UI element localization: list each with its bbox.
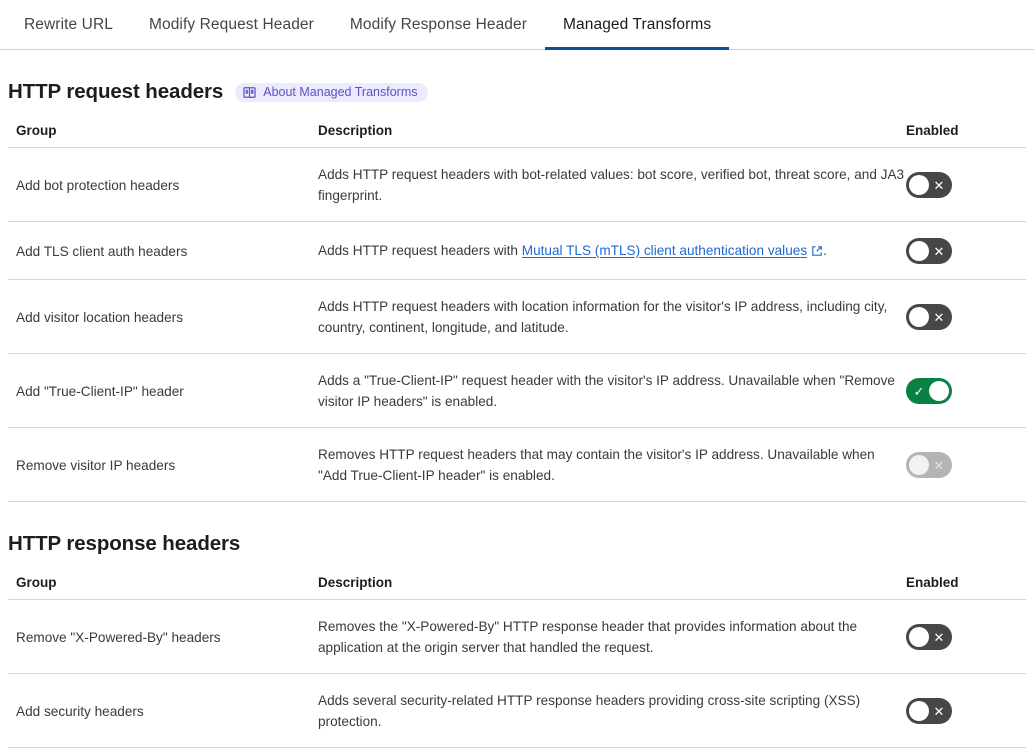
row-group-name: Add security headers: [8, 674, 318, 748]
response-headers-table: Group Description Enabled Remove "X-Powe…: [8, 575, 1026, 748]
row-description: Adds HTTP request headers with Mutual TL…: [318, 222, 906, 280]
mtls-docs-link[interactable]: Mutual TLS (mTLS) client authentication …: [522, 243, 807, 258]
row-group-name: Remove visitor IP headers: [8, 428, 318, 502]
page-title-response: HTTP response headers: [8, 532, 240, 556]
cross-icon: ✕: [928, 172, 950, 198]
toggle-knob: [909, 701, 929, 721]
http-response-headers-section: HTTP response headers Group Description …: [0, 532, 1034, 748]
cross-icon: ✕: [928, 304, 950, 330]
link-label: Mutual TLS (mTLS) client authentication …: [522, 243, 807, 258]
http-request-headers-section: HTTP request headers About Managed Trans…: [0, 80, 1034, 502]
table-row: Remove "X-Powered-By" headers Removes th…: [8, 600, 1026, 674]
cross-icon: ✕: [928, 238, 950, 264]
table-row: Add TLS client auth headers Adds HTTP re…: [8, 222, 1026, 280]
enabled-toggle[interactable]: ✕: [906, 624, 952, 650]
enabled-toggle[interactable]: ✕: [906, 238, 952, 264]
request-section-header: HTTP request headers About Managed Trans…: [8, 80, 1026, 104]
enabled-toggle: ✕: [906, 452, 952, 478]
table-row: Remove visitor IP headers Removes HTTP r…: [8, 428, 1026, 502]
toggle-knob: [909, 175, 929, 195]
table-row: Add visitor location headers Adds HTTP r…: [8, 280, 1026, 354]
row-enabled-cell: ✕: [906, 222, 1026, 280]
table-header-row: Group Description Enabled: [8, 123, 1026, 148]
row-enabled-cell: ✕: [906, 280, 1026, 354]
description-text: Removes HTTP request headers that may co…: [318, 444, 906, 486]
row-enabled-cell: ✕: [906, 674, 1026, 748]
table-row: Add security headers Adds several securi…: [8, 674, 1026, 748]
row-group-name: Add TLS client auth headers: [8, 222, 318, 280]
about-managed-transforms-badge[interactable]: About Managed Transforms: [235, 83, 428, 102]
book-icon: [243, 86, 256, 99]
tab-managed-transforms[interactable]: Managed Transforms: [545, 0, 729, 49]
row-group-name: Add "True-Client-IP" header: [8, 354, 318, 428]
table-header-row: Group Description Enabled: [8, 575, 1026, 600]
cross-icon: ✕: [928, 698, 950, 724]
description-text: Adds several security-related HTTP respo…: [318, 690, 906, 732]
column-header-description: Description: [318, 575, 906, 600]
tab-modify-response-header[interactable]: Modify Response Header: [332, 0, 545, 49]
enabled-toggle[interactable]: ✕: [906, 172, 952, 198]
column-header-group: Group: [8, 123, 318, 148]
spacer: [8, 556, 1026, 575]
cross-icon: ✕: [928, 624, 950, 650]
toggle-knob: [929, 381, 949, 401]
row-description: Removes HTTP request headers that may co…: [318, 428, 906, 502]
column-header-enabled: Enabled: [906, 575, 1026, 600]
toggle-knob: [909, 455, 929, 475]
column-header-description: Description: [318, 123, 906, 148]
row-description: Adds HTTP request headers with location …: [318, 280, 906, 354]
response-section-header: HTTP response headers: [8, 532, 1026, 556]
tab-label: Rewrite URL: [24, 16, 113, 34]
row-group-name: Remove "X-Powered-By" headers: [8, 600, 318, 674]
page-title-request: HTTP request headers: [8, 80, 223, 104]
toggle-knob: [909, 307, 929, 327]
row-description: Adds HTTP request headers with bot-relat…: [318, 148, 906, 222]
description-text: Adds a "True-Client-IP" request header w…: [318, 370, 906, 412]
row-group-name: Add visitor location headers: [8, 280, 318, 354]
toggle-knob: [909, 627, 929, 647]
table-row: Add bot protection headers Adds HTTP req…: [8, 148, 1026, 222]
enabled-toggle[interactable]: ✕: [906, 304, 952, 330]
description-text: Removes the "X-Powered-By" HTTP response…: [318, 616, 906, 658]
row-description: Adds several security-related HTTP respo…: [318, 674, 906, 748]
description-prefix: Adds HTTP request headers with: [318, 243, 522, 258]
check-icon: ✓: [908, 378, 930, 404]
description-text: Adds HTTP request headers with bot-relat…: [318, 164, 906, 206]
description-suffix: .: [823, 243, 827, 258]
spacer: [0, 50, 1034, 80]
row-enabled-cell: ✕: [906, 600, 1026, 674]
spacer: [8, 104, 1026, 123]
tab-label: Modify Request Header: [149, 16, 314, 34]
tab-label: Modify Response Header: [350, 16, 527, 34]
tab-label: Managed Transforms: [563, 16, 711, 34]
column-header-group: Group: [8, 575, 318, 600]
spacer: [0, 502, 1034, 532]
enabled-toggle[interactable]: ✓: [906, 378, 952, 404]
external-link-icon: [811, 242, 823, 263]
tab-rewrite-url[interactable]: Rewrite URL: [6, 0, 131, 49]
request-headers-table: Group Description Enabled Add bot protec…: [8, 123, 1026, 502]
column-header-enabled: Enabled: [906, 123, 1026, 148]
row-description: Removes the "X-Powered-By" HTTP response…: [318, 600, 906, 674]
tab-bar: Rewrite URL Modify Request Header Modify…: [0, 0, 1034, 50]
toggle-knob: [909, 241, 929, 261]
description-text: Adds HTTP request headers with Mutual TL…: [318, 240, 906, 263]
row-enabled-cell: ✕: [906, 148, 1026, 222]
row-group-name: Add bot protection headers: [8, 148, 318, 222]
description-text: Adds HTTP request headers with location …: [318, 296, 906, 338]
row-description: Adds a "True-Client-IP" request header w…: [318, 354, 906, 428]
tab-modify-request-header[interactable]: Modify Request Header: [131, 0, 332, 49]
badge-label: About Managed Transforms: [263, 86, 417, 99]
cross-icon: ✕: [928, 452, 950, 478]
table-row: Add "True-Client-IP" header Adds a "True…: [8, 354, 1026, 428]
row-enabled-cell: ✓: [906, 354, 1026, 428]
enabled-toggle[interactable]: ✕: [906, 698, 952, 724]
row-enabled-cell: ✕: [906, 428, 1026, 502]
